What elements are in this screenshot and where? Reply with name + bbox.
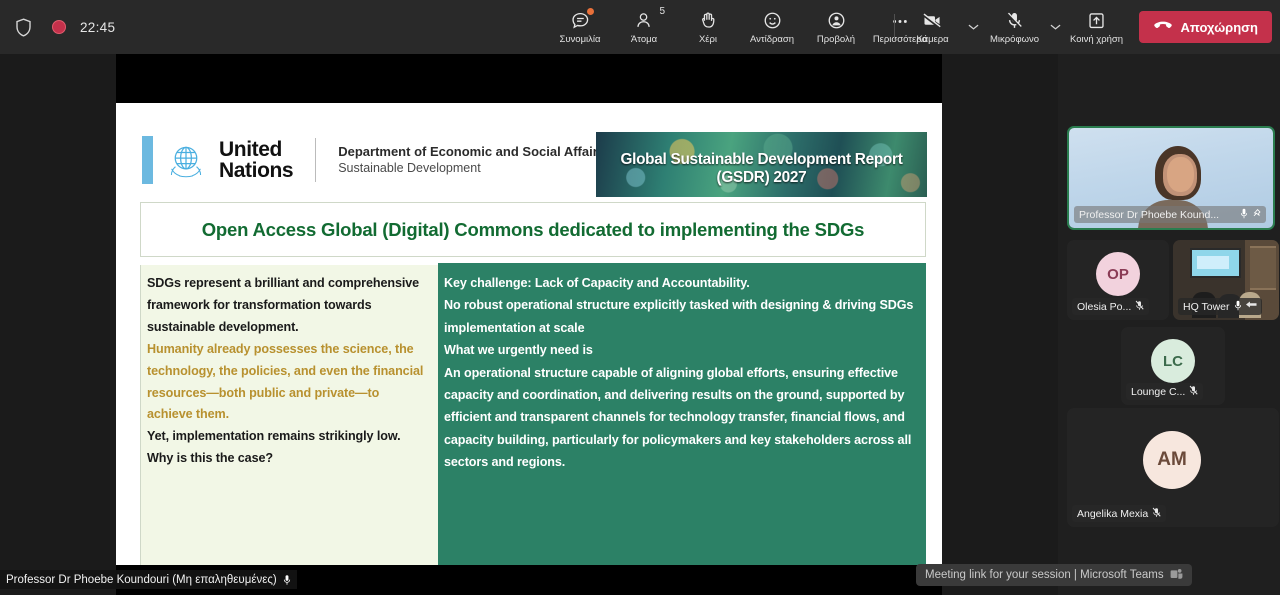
chat-unread-badge bbox=[587, 8, 594, 15]
un-wordmark: United Nations bbox=[219, 139, 293, 182]
department-line2: Sustainable Development bbox=[338, 160, 605, 177]
video-room-shelf bbox=[1250, 246, 1276, 290]
slide-left-column: SDGs represent a brilliant and comprehen… bbox=[140, 265, 438, 565]
chat-icon bbox=[570, 9, 591, 31]
participant-name-chip: Professor Dr Phoebe Kound... bbox=[1074, 206, 1266, 223]
raise-hand-icon bbox=[698, 9, 718, 31]
mic-icon bbox=[283, 574, 291, 586]
participant-name-chip: HQ Tower bbox=[1178, 298, 1262, 315]
presentation-slide: United Nations Department of Economic an… bbox=[116, 103, 942, 565]
view-label: Προβολή bbox=[817, 34, 855, 45]
microphone-chevron-down-icon[interactable] bbox=[1047, 2, 1065, 52]
toolbar-right-group: Κάμερα Μικρόφωνο bbox=[888, 0, 1272, 54]
participant-tile-lounge[interactable]: LC Lounge C... bbox=[1121, 327, 1225, 405]
recording-indicator-icon[interactable] bbox=[48, 16, 70, 38]
participant-count: 5 bbox=[659, 6, 665, 17]
live-caption-text: Professor Dr Phoebe Koundouri (Μη επαληθ… bbox=[6, 574, 277, 586]
un-wordmark-line1: United bbox=[219, 139, 293, 160]
un-wordmark-line2: Nations bbox=[219, 160, 293, 181]
share-screen-icon bbox=[1087, 9, 1106, 31]
chat-label: Συνομιλία bbox=[559, 34, 600, 45]
slide-title-band: Open Access Global (Digital) Commons ded… bbox=[140, 202, 926, 257]
slide-title: Open Access Global (Digital) Commons ded… bbox=[202, 219, 865, 241]
toolbar-center-group: Συνομιλία 5 Άτομα Χέρι bbox=[548, 0, 932, 54]
participant-tile-phoebe[interactable]: Professor Dr Phoebe Kound... bbox=[1067, 126, 1275, 230]
left-paragraph-3: Yet, implementation remains strikingly l… bbox=[147, 426, 426, 448]
raise-hand-button[interactable]: Χέρι bbox=[676, 2, 740, 52]
participant-name: Angelika Mexia bbox=[1077, 508, 1148, 520]
un-emblem-icon bbox=[163, 137, 209, 183]
mic-off-icon bbox=[1004, 9, 1025, 31]
participant-name: HQ Tower bbox=[1183, 301, 1230, 313]
meeting-stage: United Nations Department of Economic an… bbox=[0, 54, 1058, 595]
reaction-icon bbox=[762, 9, 783, 31]
taskbar-tooltip-text: Meeting link for your session | Microsof… bbox=[925, 569, 1164, 581]
right-paragraph-3: What we urgently need is bbox=[444, 339, 920, 361]
meeting-timer: 22:45 bbox=[80, 20, 115, 35]
teams-icon bbox=[1170, 568, 1183, 583]
leave-button[interactable]: Αποχώρηση bbox=[1139, 11, 1272, 43]
un-department: Department of Economic and Social Affair… bbox=[338, 143, 605, 177]
brand-divider bbox=[315, 138, 316, 182]
video-room-screen bbox=[1190, 248, 1241, 278]
left-paragraph-2: Humanity already possesses the science, … bbox=[147, 339, 426, 427]
microphone-button[interactable]: Μικρόφωνο bbox=[983, 2, 1047, 52]
right-paragraph-1: Key challenge: Lack of Capacity and Acco… bbox=[444, 272, 920, 294]
gsdr-banner-text: Global Sustainable Development Report (G… bbox=[603, 151, 921, 187]
avatar-initials: LC bbox=[1163, 353, 1183, 370]
left-paragraph-4: Why is this the case? bbox=[147, 448, 426, 470]
chat-button[interactable]: Συνομιλία bbox=[548, 2, 612, 52]
mic-off-icon bbox=[1135, 300, 1144, 314]
right-paragraph-4: An operational structure capable of alig… bbox=[444, 362, 920, 474]
un-branding: United Nations Department of Economic an… bbox=[142, 136, 605, 184]
slide-header: United Nations Department of Economic an… bbox=[116, 132, 942, 195]
view-button[interactable]: Προβολή bbox=[804, 2, 868, 52]
reaction-button[interactable]: Αντίδραση bbox=[740, 2, 804, 52]
camera-off-icon bbox=[921, 9, 944, 31]
participant-name: Professor Dr Phoebe Kound... bbox=[1079, 209, 1219, 221]
participant-name-chip: Lounge C... bbox=[1126, 383, 1203, 400]
avatar-initials: AM bbox=[1157, 449, 1187, 471]
hang-up-icon bbox=[1153, 19, 1173, 36]
share-screen-button[interactable]: Κοινή χρήση bbox=[1065, 2, 1129, 52]
right-paragraph-2: No robust operational structure explicit… bbox=[444, 294, 920, 339]
leave-label: Αποχώρηση bbox=[1181, 20, 1258, 35]
camera-label: Κάμερα bbox=[916, 34, 948, 45]
shield-icon[interactable] bbox=[8, 12, 38, 42]
participant-tile-angelika[interactable]: AM Angelika Mexia bbox=[1067, 408, 1279, 527]
camera-chevron-down-icon[interactable] bbox=[965, 2, 983, 52]
participant-tile-olesia[interactable]: OP Olesia Po... bbox=[1067, 240, 1169, 320]
microphone-label: Μικρόφωνο bbox=[990, 34, 1039, 45]
live-caption-bar: Professor Dr Phoebe Koundouri (Μη επαληθ… bbox=[0, 570, 297, 589]
meeting-toolbar: 22:45 Συνομιλία 5 Άτομα bbox=[0, 0, 1280, 54]
people-icon bbox=[634, 9, 654, 31]
view-icon bbox=[826, 9, 847, 31]
video-subject-face bbox=[1167, 157, 1194, 192]
taskbar-tooltip[interactable]: Meeting link for your session | Microsof… bbox=[916, 564, 1192, 586]
share-screen-label: Κοινή χρήση bbox=[1070, 34, 1123, 45]
mic-on-icon bbox=[1234, 300, 1242, 314]
toolbar-divider bbox=[894, 14, 895, 40]
participant-name-chip: Angelika Mexia bbox=[1072, 505, 1166, 522]
people-button[interactable]: 5 Άτομα bbox=[612, 2, 676, 52]
avatar: OP bbox=[1096, 252, 1140, 296]
people-label: Άτομα bbox=[631, 34, 657, 45]
avatar: LC bbox=[1151, 339, 1195, 383]
gsdr-banner: Global Sustainable Development Report (G… bbox=[596, 132, 927, 197]
participant-name: Lounge C... bbox=[1131, 386, 1185, 398]
left-paragraph-1: SDGs represent a brilliant and comprehen… bbox=[147, 273, 426, 339]
participant-tile-hq-tower[interactable]: HQ Tower bbox=[1173, 240, 1279, 320]
avatar-initials: OP bbox=[1107, 266, 1129, 283]
mic-on-icon bbox=[1240, 208, 1248, 222]
reaction-label: Αντίδραση bbox=[750, 34, 794, 45]
participant-roster: Professor Dr Phoebe Kound... OP Olesia P… bbox=[1058, 54, 1280, 595]
mic-off-icon bbox=[1152, 507, 1161, 521]
department-line1: Department of Economic and Social Affair… bbox=[338, 143, 605, 161]
slide-right-column: Key challenge: Lack of Capacity and Acco… bbox=[438, 263, 926, 565]
participant-name-chip: Olesia Po... bbox=[1072, 298, 1149, 315]
shared-content-icon bbox=[1246, 300, 1257, 314]
avatar: AM bbox=[1143, 431, 1201, 489]
raise-hand-label: Χέρι bbox=[699, 34, 717, 45]
shared-screen-frame[interactable]: United Nations Department of Economic an… bbox=[116, 54, 942, 595]
camera-button[interactable]: Κάμερα bbox=[901, 2, 965, 52]
toolbar-left-group: 22:45 bbox=[0, 12, 115, 42]
pin-icon bbox=[1252, 208, 1261, 222]
participant-name: Olesia Po... bbox=[1077, 301, 1131, 313]
mic-off-icon bbox=[1189, 385, 1198, 399]
un-accent-bar bbox=[142, 136, 153, 184]
